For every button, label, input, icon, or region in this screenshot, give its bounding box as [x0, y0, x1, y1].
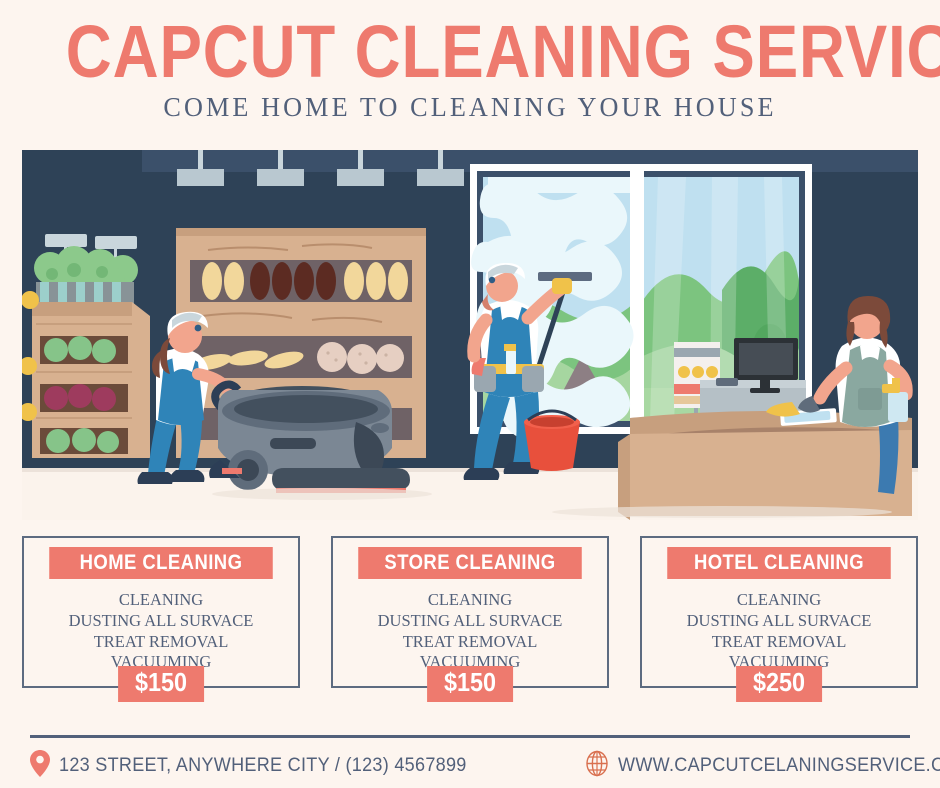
flyer-page: CAPCUT CLEANING SERVICE COME HOME TO CLE…	[0, 0, 940, 788]
page-title: CAPCUT CLEANING SERVICE	[66, 18, 874, 86]
price-badge-store: $150	[427, 666, 513, 702]
card-item: DUSTING ALL SURVACE	[24, 611, 298, 632]
card-title-home: HOME CLEANING	[49, 547, 273, 579]
service-cards: HOME CLEANING CLEANING DUSTING ALL SURVA…	[0, 536, 940, 712]
card-items-store: CLEANING DUSTING ALL SURVACE TREAT REMOV…	[333, 590, 607, 673]
service-card-hotel[interactable]: HOTEL CLEANING CLEANING DUSTING ALL SURV…	[640, 536, 918, 688]
location-pin-icon	[30, 750, 50, 782]
footer-website-text: WWW.CAPCUTCELANINGSERVICE.COM	[618, 755, 940, 777]
card-item: TREAT REMOVAL	[333, 632, 607, 653]
footer: 123 STREET, ANYWHERE CITY / (123) 456789…	[0, 745, 940, 787]
card-item: TREAT REMOVAL	[642, 632, 916, 653]
footer-website[interactable]: WWW.CAPCUTCELANINGSERVICE.COM	[585, 750, 940, 782]
price-value: $250	[753, 668, 805, 698]
card-items-home: CLEANING DUSTING ALL SURVACE TREAT REMOV…	[24, 590, 298, 673]
price-value: $150	[444, 668, 496, 698]
card-item: DUSTING ALL SURVACE	[642, 611, 916, 632]
card-items-hotel: CLEANING DUSTING ALL SURVACE TREAT REMOV…	[642, 590, 916, 673]
card-item: TREAT REMOVAL	[24, 632, 298, 653]
card-title-hotel: HOTEL CLEANING	[667, 547, 891, 579]
card-item: CLEANING	[24, 590, 298, 611]
produce-stand	[22, 234, 150, 458]
floor-scrubber-machine	[209, 384, 410, 493]
price-value: $150	[135, 668, 187, 698]
card-title-store: STORE CLEANING	[358, 547, 582, 579]
card-item: CLEANING	[642, 590, 916, 611]
header: CAPCUT CLEANING SERVICE COME HOME TO CLE…	[0, 0, 940, 123]
price-badge-home: $150	[118, 666, 204, 702]
service-card-home[interactable]: HOME CLEANING CLEANING DUSTING ALL SURVA…	[22, 536, 300, 688]
page-subtitle: COME HOME TO CLEANING YOUR HOUSE	[14, 92, 926, 123]
card-item: DUSTING ALL SURVACE	[333, 611, 607, 632]
price-badge-hotel: $250	[736, 666, 822, 702]
footer-divider	[30, 735, 910, 738]
red-bucket	[524, 411, 580, 471]
globe-icon	[585, 750, 609, 782]
hero-illustration	[22, 150, 918, 520]
footer-address: 123 STREET, ANYWHERE CITY / (123) 456789…	[30, 750, 488, 782]
footer-address-text: 123 STREET, ANYWHERE CITY / (123) 456789…	[59, 755, 467, 777]
service-card-store[interactable]: STORE CLEANING CLEANING DUSTING ALL SURV…	[331, 536, 609, 688]
card-item: CLEANING	[333, 590, 607, 611]
